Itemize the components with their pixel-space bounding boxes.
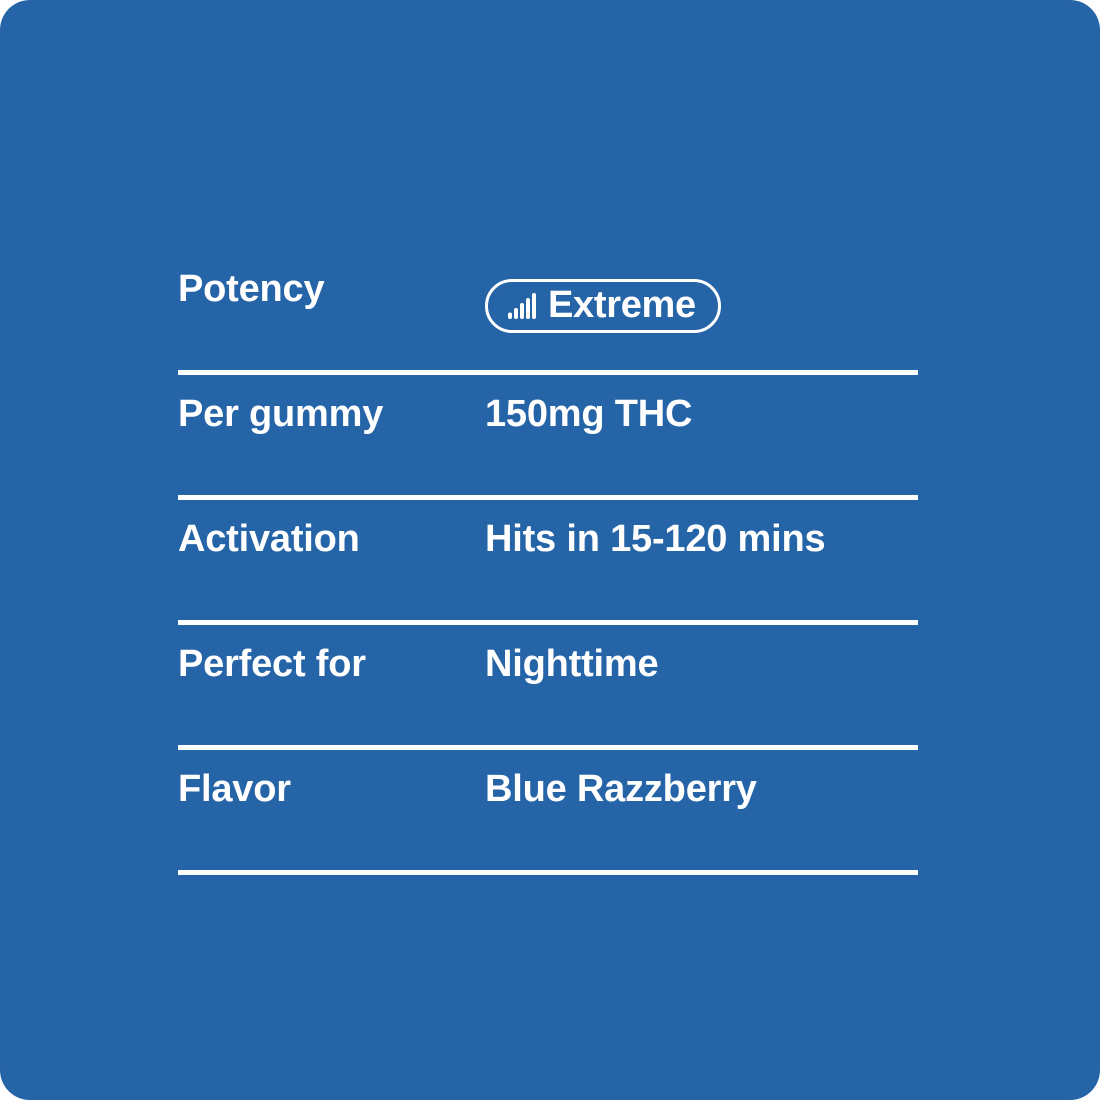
spec-label-perfect-for: Perfect for — [178, 625, 485, 683]
spec-label-potency: Potency — [178, 250, 485, 308]
spec-label-per-gummy: Per gummy — [178, 375, 485, 433]
spec-label-activation: Activation — [178, 500, 485, 558]
spec-value-potency: Extreme — [485, 250, 918, 333]
potency-badge: Extreme — [485, 279, 721, 333]
table-row: Flavor Blue Razzberry — [178, 750, 918, 875]
spec-value-flavor: Blue Razzberry — [485, 750, 918, 808]
table-row: Potency Extreme — [178, 250, 918, 375]
spec-label-flavor: Flavor — [178, 750, 485, 808]
spec-table: Potency Extreme Per gummy 150mg THC — [178, 250, 918, 875]
spec-value-per-gummy: 150mg THC — [485, 375, 918, 433]
table-row: Per gummy 150mg THC — [178, 375, 918, 500]
potency-badge-label: Extreme — [548, 286, 696, 324]
table-row: Activation Hits in 15-120 mins — [178, 500, 918, 625]
table-row: Perfect for Nighttime — [178, 625, 918, 750]
signal-bars-icon — [508, 293, 538, 319]
spec-value-perfect-for: Nighttime — [485, 625, 918, 683]
spec-value-activation: Hits in 15-120 mins — [485, 500, 918, 558]
product-spec-card: Potency Extreme Per gummy 150mg THC — [0, 0, 1100, 1100]
